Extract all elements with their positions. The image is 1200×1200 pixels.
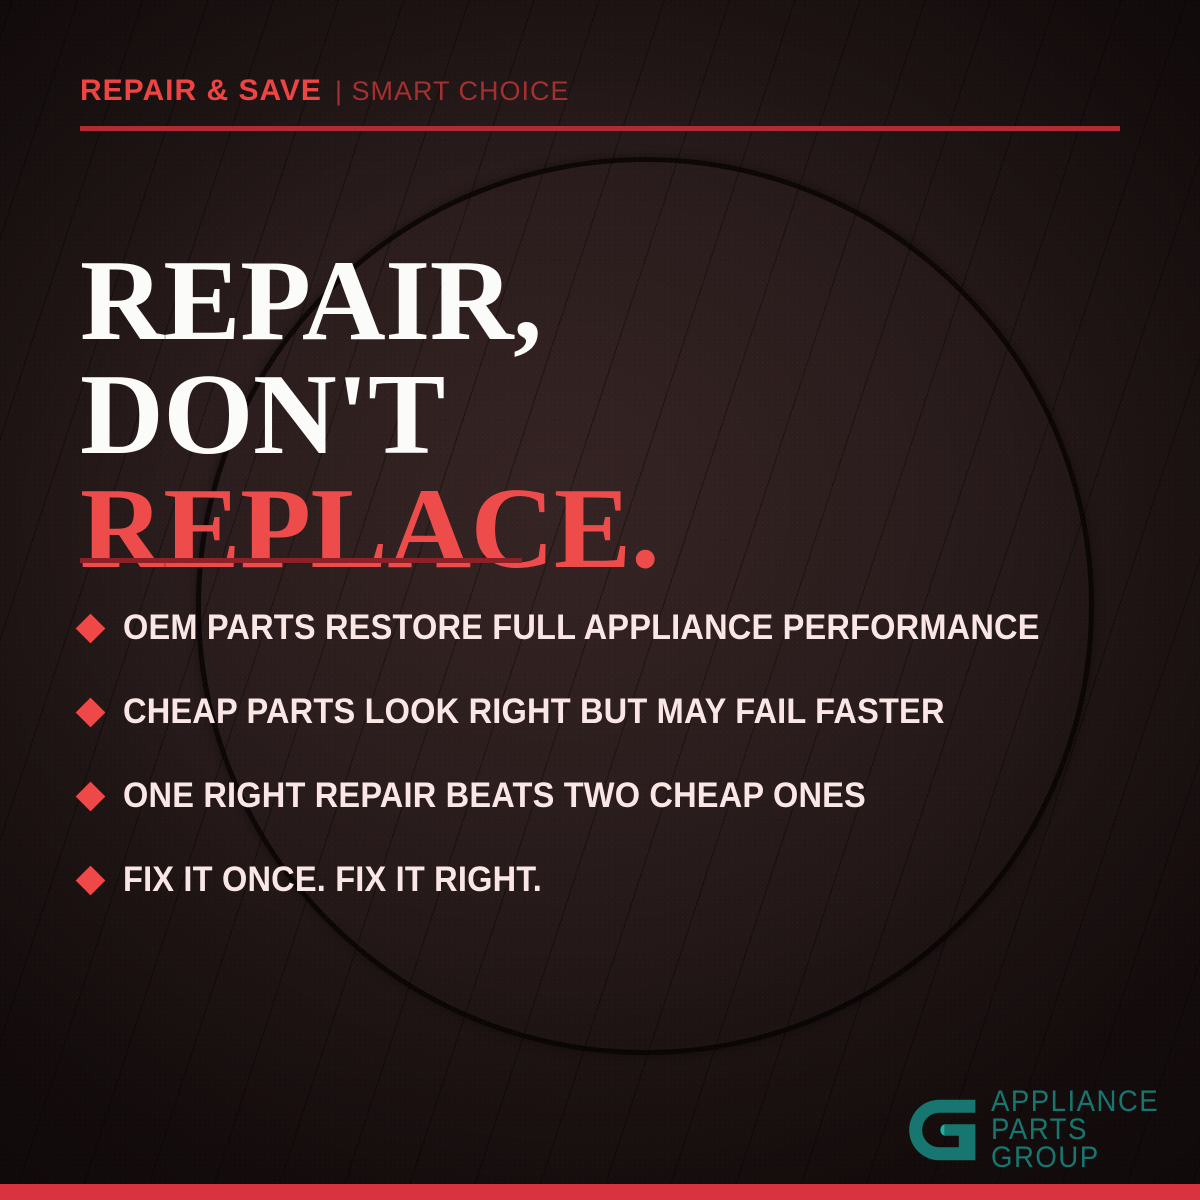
headline: REPAIR, DON'T REPLACE. bbox=[80, 244, 659, 587]
headline-line-2: DON'T bbox=[80, 358, 659, 472]
headline-divider-rule bbox=[80, 558, 522, 563]
list-item: FIX IT ONCE. FIX IT RIGHT. bbox=[80, 838, 1160, 922]
brand-logo-line-2: PARTS bbox=[991, 1116, 1159, 1144]
brand-logo: APPLIANCE PARTS GROUP bbox=[907, 1088, 1174, 1172]
brand-logo-line-3: GROUP bbox=[991, 1144, 1159, 1172]
eyebrow-sub-label: | SMART CHOICE bbox=[335, 76, 570, 107]
bottom-accent-bar bbox=[0, 1184, 1200, 1200]
diamond-bullet-icon bbox=[76, 697, 106, 727]
list-item-label: CHEAP PARTS LOOK RIGHT BUT MAY FAIL FAST… bbox=[123, 692, 945, 732]
diamond-bullet-icon bbox=[76, 781, 106, 811]
list-item: ONE RIGHT REPAIR BEATS TWO CHEAP ONES bbox=[80, 754, 1160, 838]
promo-poster: REPAIR & SAVE | SMART CHOICE REPAIR, DON… bbox=[0, 0, 1200, 1200]
eyebrow-main-label: REPAIR & SAVE bbox=[80, 74, 322, 108]
brand-logo-line-1: APPLIANCE bbox=[991, 1088, 1159, 1116]
poster-content: REPAIR & SAVE | SMART CHOICE REPAIR, DON… bbox=[0, 0, 1200, 1200]
headline-line-3: REPLACE. bbox=[80, 472, 659, 586]
benefits-list: OEM PARTS RESTORE FULL APPLIANCE PERFORM… bbox=[80, 586, 1160, 922]
brand-logo-wordmark: APPLIANCE PARTS GROUP bbox=[991, 1088, 1174, 1172]
g-monogram-icon bbox=[907, 1094, 979, 1166]
list-item: OEM PARTS RESTORE FULL APPLIANCE PERFORM… bbox=[80, 586, 1160, 670]
diamond-bullet-icon bbox=[76, 865, 106, 895]
headline-line-1: REPAIR, bbox=[80, 244, 659, 358]
eyebrow: REPAIR & SAVE | SMART CHOICE bbox=[80, 74, 570, 108]
header-divider-rule bbox=[80, 126, 1120, 131]
diamond-bullet-icon bbox=[76, 613, 106, 643]
list-item-label: OEM PARTS RESTORE FULL APPLIANCE PERFORM… bbox=[123, 608, 1040, 648]
list-item-label: ONE RIGHT REPAIR BEATS TWO CHEAP ONES bbox=[123, 776, 866, 816]
list-item-label: FIX IT ONCE. FIX IT RIGHT. bbox=[123, 860, 542, 900]
list-item: CHEAP PARTS LOOK RIGHT BUT MAY FAIL FAST… bbox=[80, 670, 1160, 754]
